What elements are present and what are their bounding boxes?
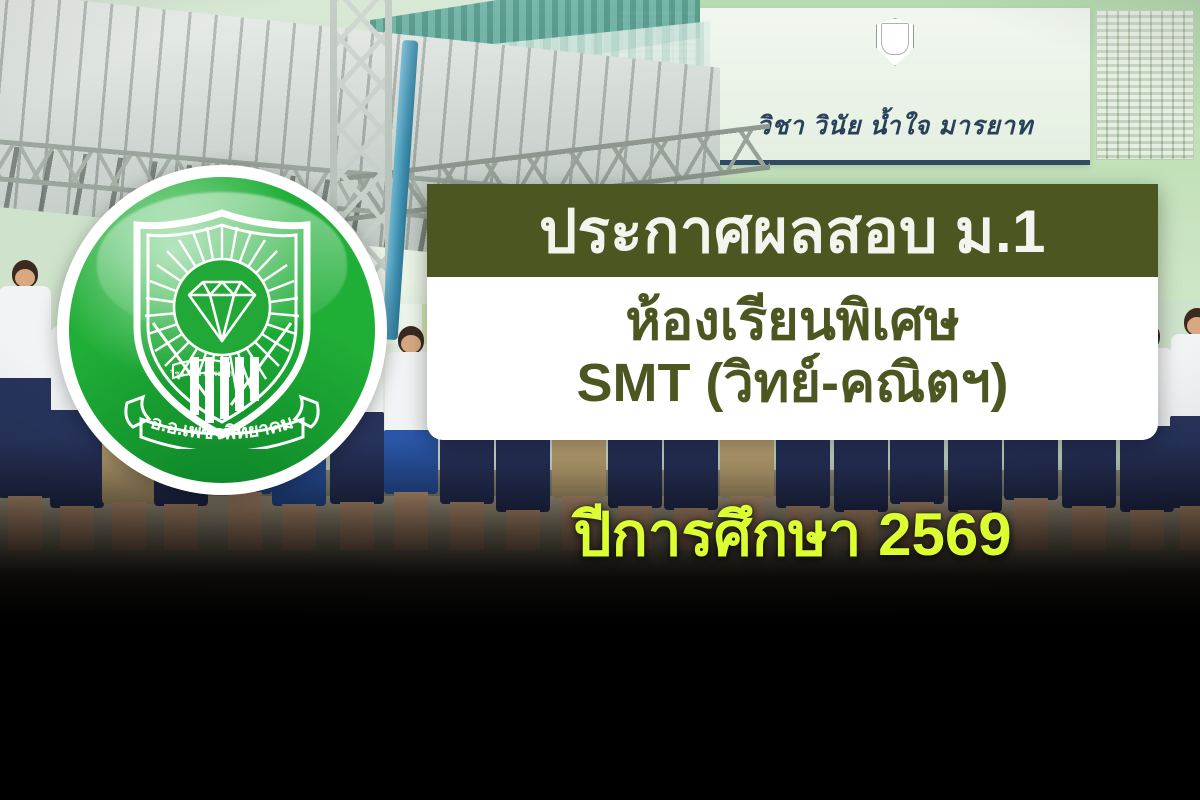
headline-banner: ประกาศผลสอบ ม.1 ห้องเรียนพิเศษ SMT (วิทย… <box>427 184 1158 440</box>
headline-line-1: ประกาศผลสอบ ม.1 <box>427 200 1158 263</box>
headline-line-3: SMT (วิทย์-คณิตฯ) <box>427 353 1158 415</box>
school-logo: วิชา วินัย มารยาท <box>57 165 387 495</box>
academic-year-text: ปีการศึกษา 2569 <box>427 505 1158 565</box>
headline-banner-bottom: ห้องเรียนพิเศษ SMT (วิทย์-คณิตฯ) <box>427 277 1158 440</box>
announcement-poster: วิชา วินัย น้ำใจ มารยาท <box>0 0 1200 800</box>
school-crest-icon: วิชา วินัย มารยาท <box>117 199 327 449</box>
crest-inner-motto: วิชา วินัย มารยาท <box>169 369 232 378</box>
logo-disc: วิชา วินัย มารยาท <box>69 177 375 483</box>
headline-line-2: ห้องเรียนพิเศษ <box>427 291 1158 353</box>
headline-banner-top: ประกาศผลสอบ ม.1 <box>427 184 1158 277</box>
